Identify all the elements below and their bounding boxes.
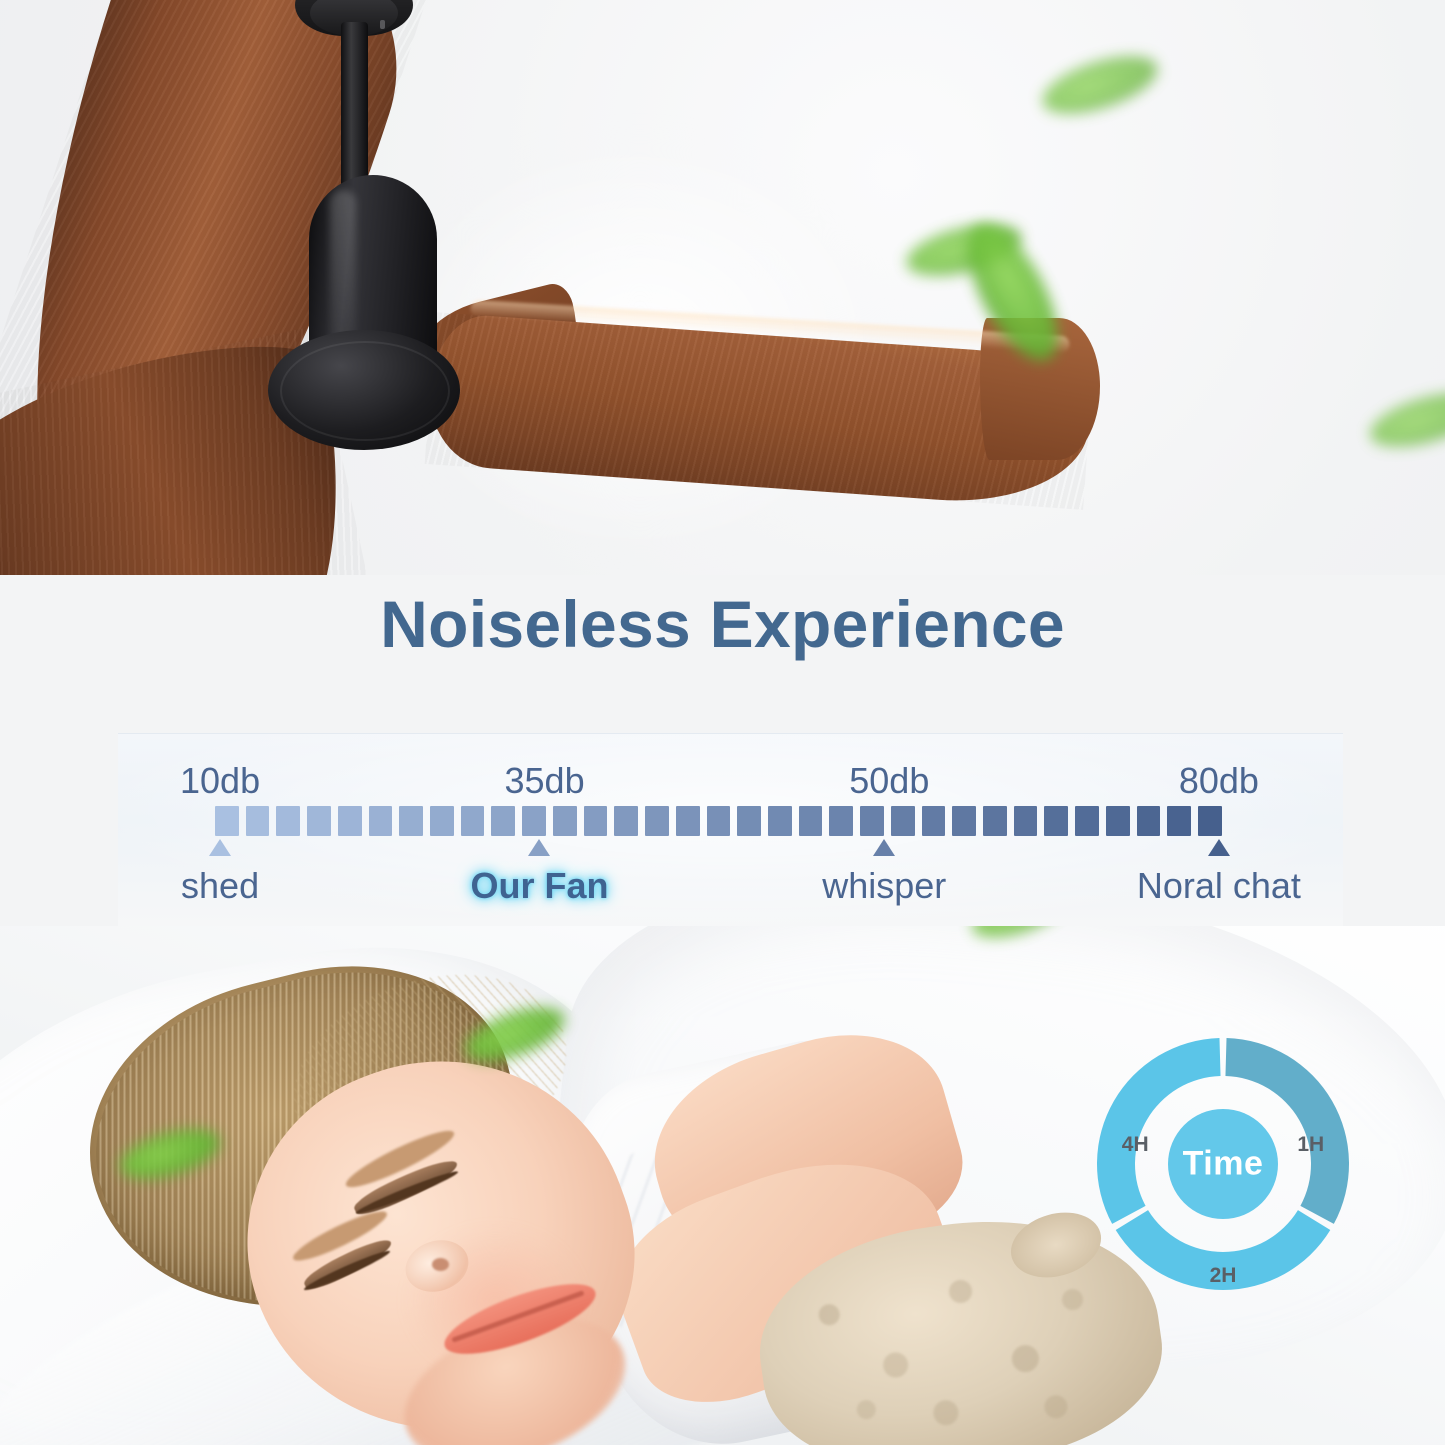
floating-leaf-icon: [1364, 383, 1445, 458]
decibel-segment: [461, 806, 485, 836]
product-feature-panel: Noiseless Experience 10db35db50db80db sh…: [0, 0, 1445, 1445]
noise-scale: 10db35db50db80db shedOur FanwhisperNoral…: [215, 733, 1229, 926]
decibel-segment: [430, 806, 454, 836]
noise-marker-label: shed: [181, 865, 259, 907]
timer-label-2h: 2H: [1210, 1264, 1237, 1288]
decibel-segment: [369, 806, 393, 836]
decibel-segment: [860, 806, 884, 836]
noise-marker-triangle-icon: [209, 839, 231, 856]
decibel-tick-label: 10db: [180, 760, 260, 802]
decibel-segment: [737, 806, 761, 836]
decibel-segment: [1137, 806, 1161, 836]
decibel-segment: [1167, 806, 1191, 836]
decibel-segment: [1014, 806, 1038, 836]
decibel-segment: [246, 806, 270, 836]
ceiling-fan-hero-image: [0, 0, 1445, 575]
decibel-segment: [645, 806, 669, 836]
decibel-segment: [614, 806, 638, 836]
decibel-gradient-segments: [215, 806, 1229, 836]
decibel-segment: [1044, 806, 1068, 836]
noise-marker-labels: shedOur FanwhisperNoral chat: [215, 865, 1229, 915]
noise-marker-triangle-icon: [528, 839, 550, 856]
decibel-tick-label: 80db: [1179, 760, 1259, 802]
decibel-segment: [983, 806, 1007, 836]
noise-marker-label: Our Fan: [470, 865, 608, 907]
decibel-segment: [799, 806, 823, 836]
decibel-segment: [1106, 806, 1130, 836]
decibel-segment: [1075, 806, 1099, 836]
fan-downrod: [341, 22, 368, 187]
decibel-segment: [707, 806, 731, 836]
decibel-segment: [1198, 806, 1222, 836]
timer-donut-chart: Time 1H2H4H: [1090, 1031, 1356, 1297]
decibel-segment: [522, 806, 546, 836]
timer-label-1h: 1H: [1297, 1133, 1324, 1157]
floating-leaf-icon: [1036, 45, 1164, 126]
decibel-segment: [553, 806, 577, 836]
decibel-tick-label: 35db: [505, 760, 585, 802]
decibel-tick-labels: 10db35db50db80db: [215, 760, 1229, 808]
noise-marker-triangle-icon: [1208, 839, 1230, 856]
decibel-segment: [399, 806, 423, 836]
decibel-tick-label: 50db: [849, 760, 929, 802]
child-nostril: [432, 1258, 449, 1271]
noise-marker-label: whisper: [822, 865, 946, 907]
decibel-segment: [338, 806, 362, 836]
decibel-segment: [676, 806, 700, 836]
fan-hub-ring: [280, 341, 450, 441]
decibel-segment: [491, 806, 515, 836]
page-title: Noiseless Experience: [0, 586, 1445, 662]
timer-center-label: Time: [1183, 1145, 1264, 1184]
noise-marker-label: Noral chat: [1137, 865, 1301, 907]
decibel-segment: [829, 806, 853, 836]
decibel-segment: [307, 806, 331, 836]
canopy-screw-icon: [380, 20, 385, 29]
decibel-segment: [922, 806, 946, 836]
decibel-segment: [952, 806, 976, 836]
noise-marker-triangle-icon: [873, 839, 895, 856]
decibel-segment: [891, 806, 915, 836]
decibel-segment: [276, 806, 300, 836]
timer-label-4h: 4H: [1122, 1133, 1149, 1157]
decibel-segment: [215, 806, 239, 836]
decibel-segment: [768, 806, 792, 836]
decibel-segment: [584, 806, 608, 836]
